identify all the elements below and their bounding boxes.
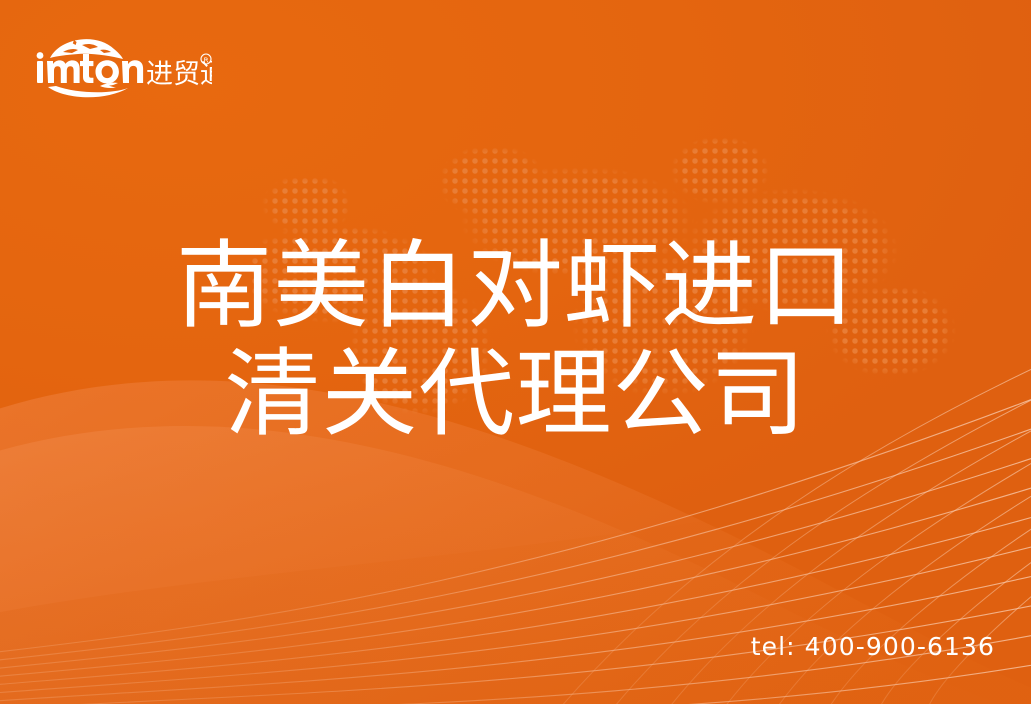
headline-line-2: 清关代理公司: [0, 340, 1031, 448]
page-title: 南美白对虾进口 清关代理公司: [0, 232, 1031, 449]
swoosh-bird-icon: [48, 83, 128, 98]
company-logo[interactable]: 进贸通 R: [34, 32, 212, 100]
svg-text:R: R: [204, 57, 209, 65]
promotional-banner: 进贸通 R 南美白对虾进口 清关代理公司 tel: 400-900-6136: [0, 0, 1031, 704]
headline-line-1: 南美白对虾进口: [0, 232, 1031, 340]
logo-chinese-name: 进贸通: [146, 59, 212, 90]
contact-telephone[interactable]: tel: 400-900-6136: [751, 632, 995, 661]
